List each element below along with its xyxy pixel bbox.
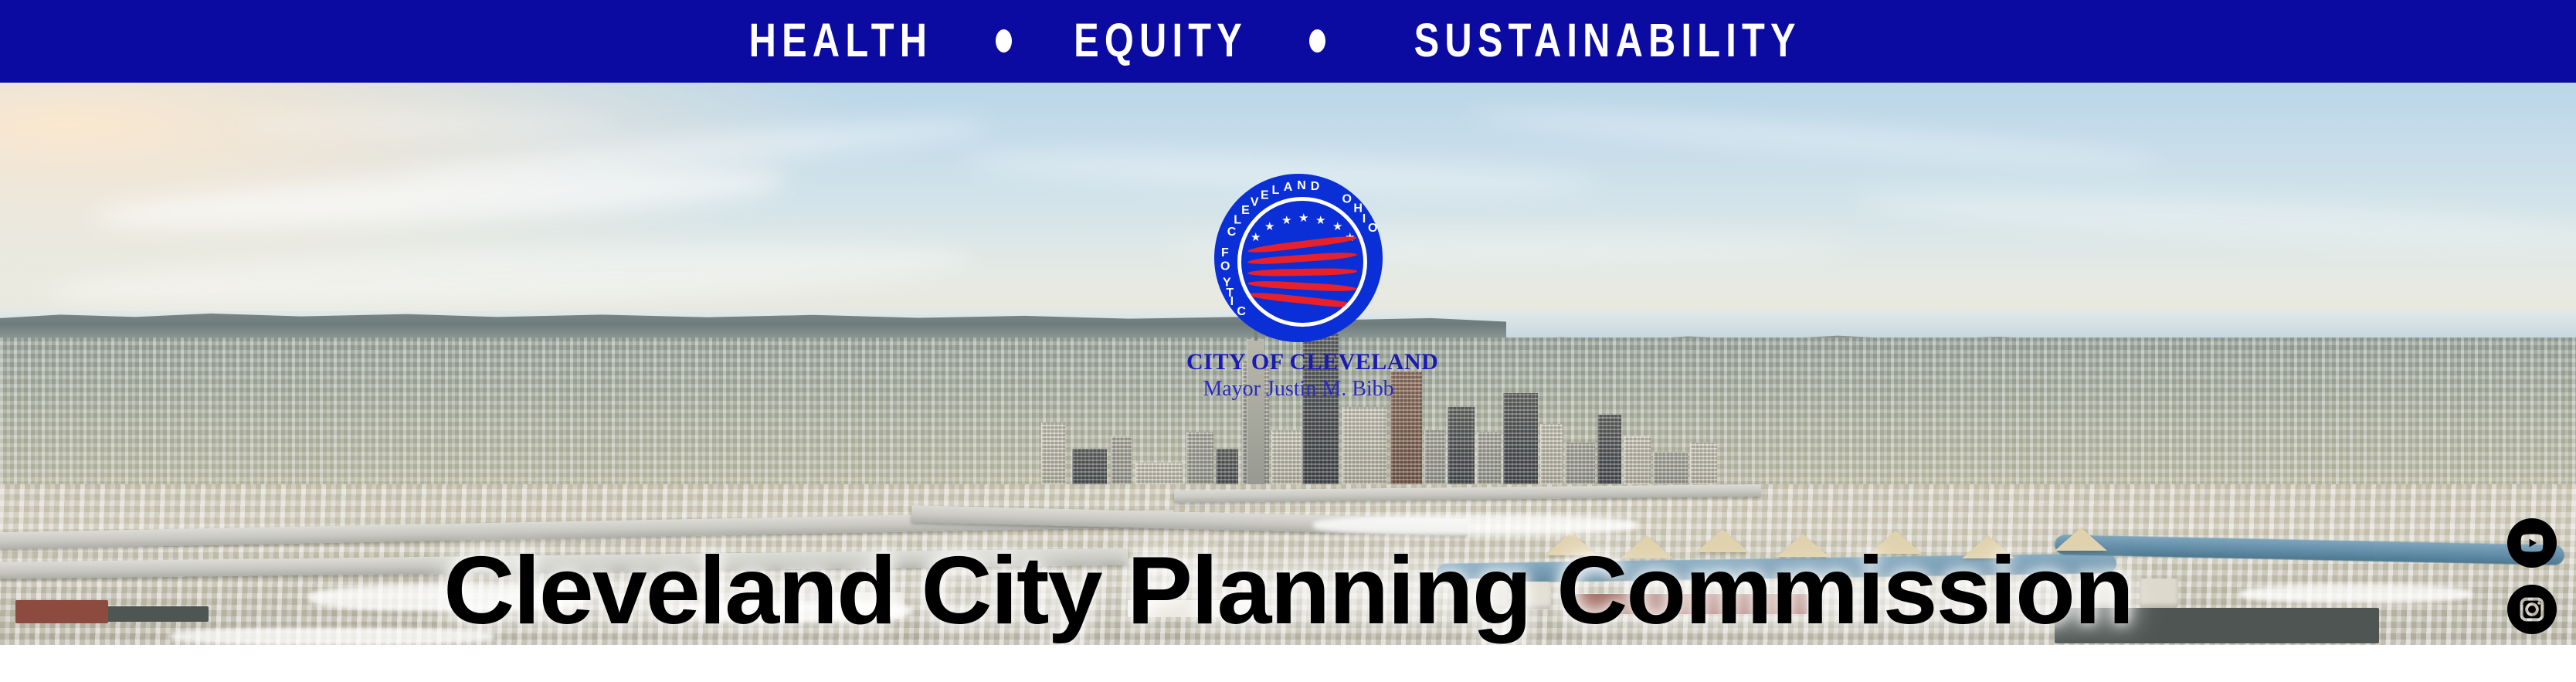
instagram-link[interactable]	[2507, 585, 2557, 634]
tagline-bar: HEALTH EQUITY SUSTAINABILITY	[0, 0, 2576, 83]
bullet-dot-icon	[996, 29, 1012, 53]
logo-organization-name: CITY OF CLEVELAND	[1186, 350, 1410, 375]
bottom-white-strip	[0, 645, 2576, 682]
city-of-cleveland-logo[interactable]: C I T Y O F C L E V E L A N D O H	[1186, 174, 1410, 405]
bullet-dot-icon	[1309, 29, 1325, 53]
social-links	[2507, 518, 2557, 645]
cloud	[232, 114, 618, 134]
city-of-cleveland-seal-icon: C I T Y O F C L E V E L A N D O H	[1214, 174, 1383, 342]
logo-mayor-name: Mayor Justin M. Bibb	[1186, 378, 1410, 400]
page-title: Cleveland City Planning Commission	[0, 543, 2576, 639]
tagline-word-health: HEALTH	[749, 17, 932, 64]
youtube-icon	[2507, 518, 2557, 568]
hero-background-photo: C I T Y O F C L E V E L A N D O H	[0, 83, 2576, 645]
page-title-text: Cleveland City Planning Commission	[443, 543, 2133, 639]
waving-us-flag-icon	[1247, 241, 1357, 312]
instagram-icon	[2507, 585, 2557, 634]
planning-commission-banner: HEALTH EQUITY SUSTAINABILITY	[0, 0, 2576, 682]
youtube-link[interactable]	[2507, 518, 2557, 568]
tagline-word-equity: EQUITY	[1074, 17, 1247, 64]
tagline-content: HEALTH EQUITY SUSTAINABILITY	[726, 17, 1849, 64]
tagline-word-sustainability: SUSTAINABILITY	[1414, 17, 1801, 64]
